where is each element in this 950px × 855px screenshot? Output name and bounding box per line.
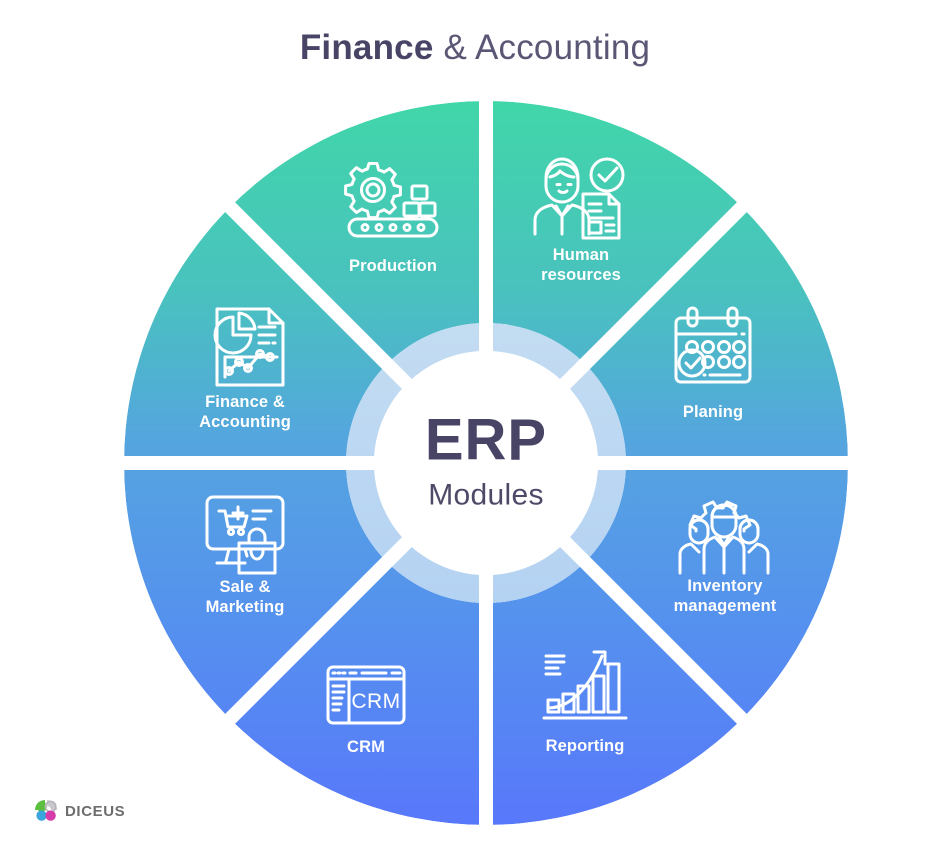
segment-label-sale-marketing[interactable]: Sale & Marketing bbox=[206, 577, 285, 617]
segment-label-inventory-management[interactable]: Inventory management bbox=[674, 576, 777, 616]
wheel-svg bbox=[0, 0, 950, 855]
diceus-logo-text: DICEUS bbox=[65, 803, 125, 820]
segment-label-crm[interactable]: CRM bbox=[347, 737, 385, 757]
segment-label-human-resources[interactable]: Human resources bbox=[541, 245, 621, 285]
segment-label-planing[interactable]: Planing bbox=[683, 402, 743, 422]
erp-modules-wheel: ERP Modules bbox=[0, 0, 950, 855]
diceus-logo[interactable]: DICEUS bbox=[33, 798, 125, 824]
segment-label-reporting[interactable]: Reporting bbox=[546, 736, 625, 756]
segment-label-production[interactable]: Production bbox=[349, 256, 437, 276]
wheel-center-disc bbox=[374, 351, 598, 575]
diceus-logo-mark bbox=[33, 798, 59, 824]
segment-label-finance-accounting[interactable]: Finance & Accounting bbox=[199, 392, 291, 432]
